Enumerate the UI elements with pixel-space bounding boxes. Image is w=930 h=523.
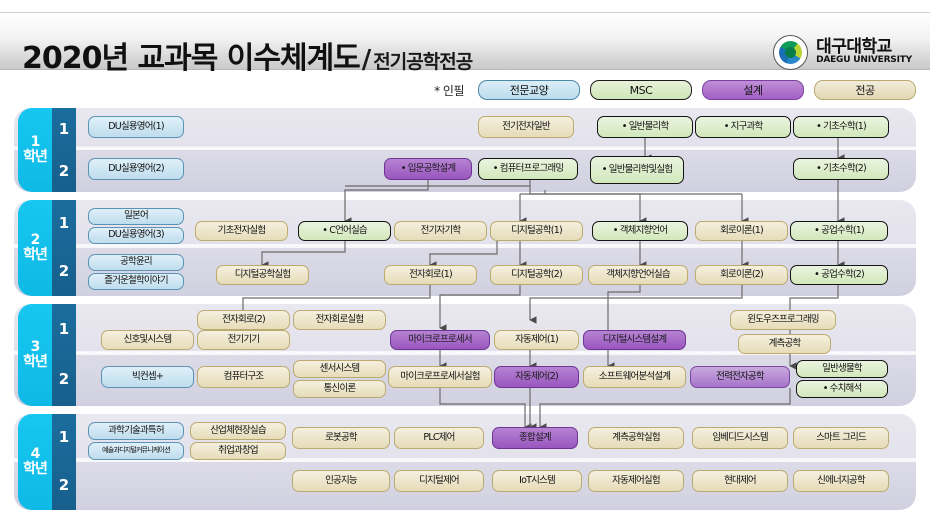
course-label: 기초전자실험 [218, 226, 266, 236]
course-label: 디지털공학실험 [235, 270, 291, 280]
legend-item-general-education: 전문교양 [478, 80, 580, 100]
course-box[interactable]: 과학기술과특허 [88, 422, 184, 440]
course-label: 예술과디지털커뮤니케이션 [102, 447, 170, 455]
course-box[interactable]: 기초전자실험 [195, 221, 288, 241]
required-dot-icon: • [816, 164, 821, 175]
required-dot-icon: • [493, 164, 498, 175]
course-label: 센서시스템 [320, 364, 360, 374]
year-2-unit: 학년 [23, 248, 47, 263]
course-box[interactable]: 공학윤리 [88, 254, 184, 271]
course-box[interactable]: 객체지향언어실습 [588, 265, 688, 285]
course-label: C언어실습 [329, 226, 367, 236]
course-label: 스마트 그리드 [816, 433, 866, 443]
course-box[interactable]: 예술과디지털커뮤니케이션 [88, 442, 184, 460]
course-box[interactable]: 전력전자공학 [690, 366, 790, 388]
year-4-semester-1: 1 [52, 428, 76, 446]
year-2-semester-1: 1 [52, 214, 76, 232]
title-subtitle: 전기공학전공 [373, 51, 472, 73]
year-2-semester-2: 2 [52, 262, 76, 280]
course-label: 컴퓨터구조 [224, 372, 264, 382]
course-box[interactable]: 회로이론(2) [695, 265, 788, 285]
course-box[interactable]: PLC제어 [394, 427, 484, 449]
course-label: 디지털제어 [419, 476, 459, 486]
course-label: 디지털시스템설계 [603, 335, 667, 345]
course-box[interactable]: 스마트 그리드 [793, 427, 889, 449]
required-dot-icon: • [724, 122, 729, 133]
course-label: 자동제어(2) [515, 372, 558, 382]
course-label: 임베디드시스템 [712, 433, 768, 443]
course-label: 일본어 [124, 211, 148, 221]
course-box[interactable]: 종합설계 [492, 427, 578, 449]
year-4-semester-divider [55, 460, 915, 461]
course-box[interactable]: 통신이론 [293, 380, 386, 398]
year-2-semester-divider [55, 245, 915, 246]
page-header: 2020년 교과목 이수체계도/전기공학전공 대구대학교 DAEGU UNIVE… [0, 12, 930, 70]
course-box[interactable]: 즐거운철학이야기 [88, 273, 184, 290]
course-box[interactable]: 전자회로(2) [197, 310, 290, 330]
course-box[interactable]: 윈도우즈프로그래밍 [730, 310, 836, 330]
course-label: 일반물리학 [629, 122, 669, 132]
required-dot-icon: • [322, 226, 327, 237]
course-box[interactable]: 전기기기 [197, 330, 290, 350]
year-3-semester-2: 2 [52, 370, 76, 388]
year-1-semester-divider [55, 148, 915, 149]
course-label: 객체지향언어 [620, 226, 668, 236]
course-box[interactable]: •컴퓨터프로그래밍 [478, 158, 578, 180]
course-box[interactable]: •입문공학설계 [384, 158, 472, 180]
course-label: 일반물리학및실험 [609, 165, 673, 175]
course-label: 일반생물학 [822, 364, 862, 374]
course-label: 공학윤리 [120, 257, 152, 267]
required-dot-icon: • [602, 165, 607, 176]
legend-note: * 인필 [434, 82, 464, 99]
university-name-en: DAEGU UNIVERSITY [816, 56, 912, 66]
course-label: 자동제어실험 [612, 476, 660, 486]
course-box[interactable]: •객체지향언어 [592, 221, 688, 241]
course-box[interactable]: 계측공학실험 [588, 427, 684, 449]
required-dot-icon: • [622, 122, 627, 133]
course-label: 전기전자일반 [502, 122, 550, 132]
course-box[interactable]: 디지털공학(1) [490, 221, 583, 241]
year-3-unit: 학년 [23, 355, 47, 370]
course-label: 입문공학설계 [408, 164, 456, 174]
course-box[interactable]: •일반물리학 [597, 116, 693, 138]
course-label: 전자회로(1) [409, 270, 452, 280]
course-box[interactable]: •일반물리학및실험 [590, 156, 684, 184]
course-box[interactable]: 회로이론(1) [695, 221, 788, 241]
course-box[interactable]: 인공지능 [292, 470, 390, 492]
course-label: 마이크로프로세서실험 [400, 372, 479, 382]
course-label: DU실용영어(1) [108, 122, 164, 132]
sidebar-year-3-semesters: 1 2 [52, 304, 76, 406]
year-3-number: 3 [31, 340, 40, 355]
course-label: DU실용영어(3) [108, 230, 164, 240]
course-label: 자동제어(1) [515, 335, 558, 345]
course-label: 전자회로(2) [222, 315, 265, 325]
required-dot-icon: • [814, 226, 819, 237]
sidebar-year-4-semesters: 1 2 [52, 414, 76, 510]
course-label: 공업수학(2) [821, 270, 864, 280]
legend-item-design: 설계 [702, 80, 804, 100]
course-box[interactable]: 전자회로(1) [384, 265, 477, 285]
course-box[interactable]: 전기자기학 [394, 221, 487, 241]
course-label: 디지털공학(2) [511, 270, 562, 280]
university-name-kr: 대구대학교 [816, 39, 912, 57]
legend-item-msc: MSC [590, 80, 692, 100]
course-label: 취업과창업 [218, 446, 258, 456]
required-dot-icon: • [823, 384, 828, 395]
year-4-number: 4 [31, 447, 40, 462]
course-box[interactable]: 일반생물학 [796, 360, 888, 378]
course-box[interactable]: 디지털공학(2) [490, 265, 583, 285]
course-box[interactable]: •지구과학 [695, 116, 791, 138]
course-box[interactable]: •기초수학(2) [793, 158, 889, 180]
course-box[interactable]: 마이크로프로세서 [390, 330, 490, 350]
course-box[interactable]: 산업체현장실습 [190, 422, 286, 440]
course-box[interactable]: 자동제어(2) [494, 366, 579, 388]
course-box[interactable]: •C언어실습 [298, 221, 391, 241]
legend: * 인필 전문교양 MSC 설계 전공 [0, 78, 930, 102]
course-label: 종합설계 [519, 433, 551, 443]
course-label: 계측공학실험 [612, 433, 660, 443]
course-box[interactable]: DU실용영어(1) [88, 116, 184, 138]
course-label: 로봇공학 [325, 433, 357, 443]
sidebar-year-1-semesters: 1 2 [52, 108, 76, 192]
course-box[interactable]: 계측공학 [738, 334, 831, 354]
year-4-unit: 학년 [23, 462, 47, 477]
course-box[interactable]: 일본어 [88, 208, 184, 225]
year-4-semester-2: 2 [52, 476, 76, 494]
course-label: 계측공학 [769, 339, 801, 349]
course-label: 공업수학(1) [821, 226, 864, 236]
course-label: DU실용영어(2) [108, 164, 164, 174]
course-box[interactable]: 전기전자일반 [478, 116, 574, 138]
course-box[interactable]: 디지털시스템설계 [583, 330, 686, 350]
course-label: 전기기기 [228, 335, 260, 345]
course-label: 마이크로프로세서 [408, 335, 472, 345]
course-box[interactable]: 취업과창업 [190, 442, 286, 460]
legend-item-major: 전공 [814, 80, 916, 100]
course-box[interactable]: DU실용영어(2) [88, 158, 184, 180]
course-box[interactable]: 컴퓨터구조 [197, 366, 290, 388]
course-box[interactable]: 신호및시스템 [101, 330, 194, 350]
course-label: 신호및시스템 [124, 335, 172, 345]
sidebar-year-3: 3 학년 [18, 304, 52, 406]
daegu-university-emblem-icon [773, 35, 808, 70]
course-box[interactable]: 자동제어(1) [494, 330, 579, 350]
year-2-number: 2 [31, 233, 40, 248]
course-label: 수치해석 [830, 384, 862, 394]
course-box[interactable]: •기초수학(1) [793, 116, 889, 138]
course-box[interactable]: •공업수학(1) [790, 221, 888, 241]
course-box[interactable]: 마이크로프로세서실험 [388, 366, 492, 388]
course-label: 전기자기학 [421, 226, 461, 236]
title-separator: / [362, 45, 372, 75]
course-label: 회로이론(1) [720, 226, 763, 236]
course-label: 소프트웨어분석설계 [599, 372, 670, 382]
page-title: 2020년 교과목 이수체계도/전기공학전공 [22, 33, 472, 77]
course-label: PLC제어 [423, 433, 454, 443]
course-label: 디지털공학(1) [511, 226, 562, 236]
university-logo: 대구대학교 DAEGU UNIVERSITY [773, 35, 912, 70]
course-box[interactable]: 신에너지공학 [793, 470, 889, 492]
sidebar-year-1: 1 학년 [18, 108, 52, 192]
year-1-unit: 학년 [23, 150, 47, 165]
course-label: 지구과학 [731, 122, 763, 132]
year-3-semester-1: 1 [52, 320, 76, 338]
required-dot-icon: • [814, 270, 819, 281]
course-box[interactable]: 소프트웨어분석설계 [583, 366, 686, 388]
course-label: 과학기술과특허 [108, 426, 164, 436]
required-dot-icon: • [816, 122, 821, 133]
course-box[interactable]: 빅컨셉+ [101, 366, 194, 388]
course-box[interactable]: 디지털공학실험 [216, 265, 309, 285]
course-label: 전자회로실험 [316, 315, 364, 325]
course-box[interactable]: DU실용영어(3) [88, 227, 184, 244]
year-1-semester-2: 2 [52, 162, 76, 180]
sidebar-year-2: 2 학년 [18, 200, 52, 296]
sidebar-year-4: 4 학년 [18, 414, 52, 510]
course-box[interactable]: 현대제어 [692, 470, 788, 492]
course-label: 인공지능 [325, 476, 357, 486]
course-box[interactable]: •공업수학(2) [790, 265, 888, 285]
required-dot-icon: • [401, 164, 406, 175]
university-name: 대구대학교 DAEGU UNIVERSITY [816, 39, 912, 67]
course-box[interactable]: 임베디드시스템 [692, 427, 788, 449]
course-label: 컴퓨터프로그래밍 [500, 164, 564, 174]
course-label: IoT시스템 [519, 476, 555, 486]
course-label: 빅컨셉+ [132, 372, 163, 382]
course-box[interactable]: •수치해석 [796, 380, 888, 398]
course-box[interactable]: 로봇공학 [292, 427, 390, 449]
course-label: 통신이론 [324, 384, 356, 394]
course-label: 기초수학(1) [823, 122, 866, 132]
course-box[interactable]: 전자회로실험 [293, 310, 386, 330]
course-label: 윈도우즈프로그래밍 [747, 315, 818, 325]
required-dot-icon: • [613, 226, 618, 237]
sidebar-year-2-semesters: 1 2 [52, 200, 76, 296]
course-label: 산업체현장실습 [210, 426, 266, 436]
course-box[interactable]: IoT시스템 [492, 470, 582, 492]
course-label: 객체지향언어실습 [606, 270, 670, 280]
course-box[interactable]: 자동제어실험 [588, 470, 684, 492]
course-box[interactable]: 센서시스템 [293, 360, 386, 378]
course-label: 즐거운철학이야기 [104, 276, 168, 286]
course-label: 회로이론(2) [720, 270, 763, 280]
curriculum-diagram-page: 2020년 교과목 이수체계도/전기공학전공 대구대학교 DAEGU UNIVE… [0, 0, 930, 523]
course-label: 현대제어 [724, 476, 756, 486]
course-label: 기초수학(2) [823, 164, 866, 174]
course-label: 전력전자공학 [716, 372, 764, 382]
year-1-number: 1 [31, 135, 40, 150]
course-label: 신에너지공학 [817, 476, 865, 486]
course-box[interactable]: 디지털제어 [394, 470, 484, 492]
title-main: 2020년 교과목 이수체계도 [22, 41, 360, 76]
diagram-canvas: 1 학년 1 2 2 학년 1 2 3 학년 1 2 4 학년 [0, 102, 930, 523]
year-1-semester-1: 1 [52, 120, 76, 138]
